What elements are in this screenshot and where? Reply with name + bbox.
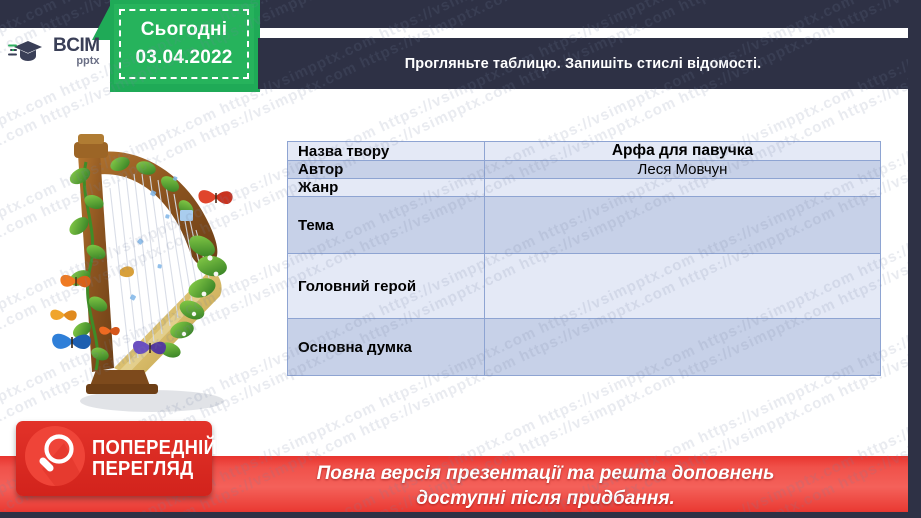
row-value[interactable]: Арфа для павучка <box>485 142 881 161</box>
slide-root: BCIM pptx Сьогодні 03.04.2022 Прогляньте… <box>0 0 921 518</box>
slide-title-bar: Прогляньте таблицю. Запишіть стислі відо… <box>258 38 908 89</box>
footer-line-1: Повна версія презентації та решта доповн… <box>317 462 775 487</box>
brand-logo-text: BCIM pptx <box>53 36 100 67</box>
story-info-table: Назва твору Арфа для павучка Автор Леся … <box>287 141 881 376</box>
graduation-cap-icon <box>8 36 48 66</box>
date-badge-label: Сьогодні <box>141 16 227 44</box>
magnifier-icon <box>24 425 86 492</box>
table-row: Жанр <box>288 179 881 197</box>
brand-sub: pptx <box>53 56 100 67</box>
footer-text: Повна версія презентації та решта доповн… <box>147 462 775 511</box>
row-label: Тема <box>288 197 485 254</box>
table-row: Тема <box>288 197 881 254</box>
row-label: Автор <box>288 161 485 179</box>
today-date-badge: Сьогодні 03.04.2022 <box>114 4 254 84</box>
row-label: Основна думка <box>288 319 485 376</box>
preview-badge-line-2: ПЕРЕГЛЯД <box>92 459 217 479</box>
brand-logo: BCIM pptx <box>8 30 108 72</box>
preview-badge-line-1: ПОПЕРЕДНІЙ <box>92 438 217 458</box>
table-row: Автор Леся Мовчун <box>288 161 881 179</box>
table-row: Назва твору Арфа для павучка <box>288 142 881 161</box>
brand-name: BCIM <box>53 36 100 55</box>
preview-badge[interactable]: ПОПЕРЕДНІЙ ПЕРЕГЛЯД <box>16 421 212 496</box>
date-badge-value: 03.04.2022 <box>135 44 232 72</box>
row-value[interactable]: Леся Мовчун <box>485 161 881 179</box>
harp-illustration <box>34 118 249 418</box>
row-label: Жанр <box>288 179 485 197</box>
row-value[interactable] <box>485 319 881 376</box>
row-label: Назва твору <box>288 142 485 161</box>
row-label: Головний герой <box>288 254 485 319</box>
row-value[interactable] <box>485 254 881 319</box>
row-value[interactable] <box>485 197 881 254</box>
right-edge-strip <box>908 0 921 518</box>
table-body: Назва твору Арфа для павучка Автор Леся … <box>288 142 881 376</box>
footer-line-2: доступні після придбання. <box>317 487 775 512</box>
row-value[interactable] <box>485 179 881 197</box>
page-title: Прогляньте таблицю. Запишіть стислі відо… <box>405 56 762 72</box>
bottom-edge-strip <box>0 512 921 518</box>
preview-badge-text: ПОПЕРЕДНІЙ ПЕРЕГЛЯД <box>92 438 228 479</box>
table-row: Основна думка <box>288 319 881 376</box>
table-row: Головний герой <box>288 254 881 319</box>
